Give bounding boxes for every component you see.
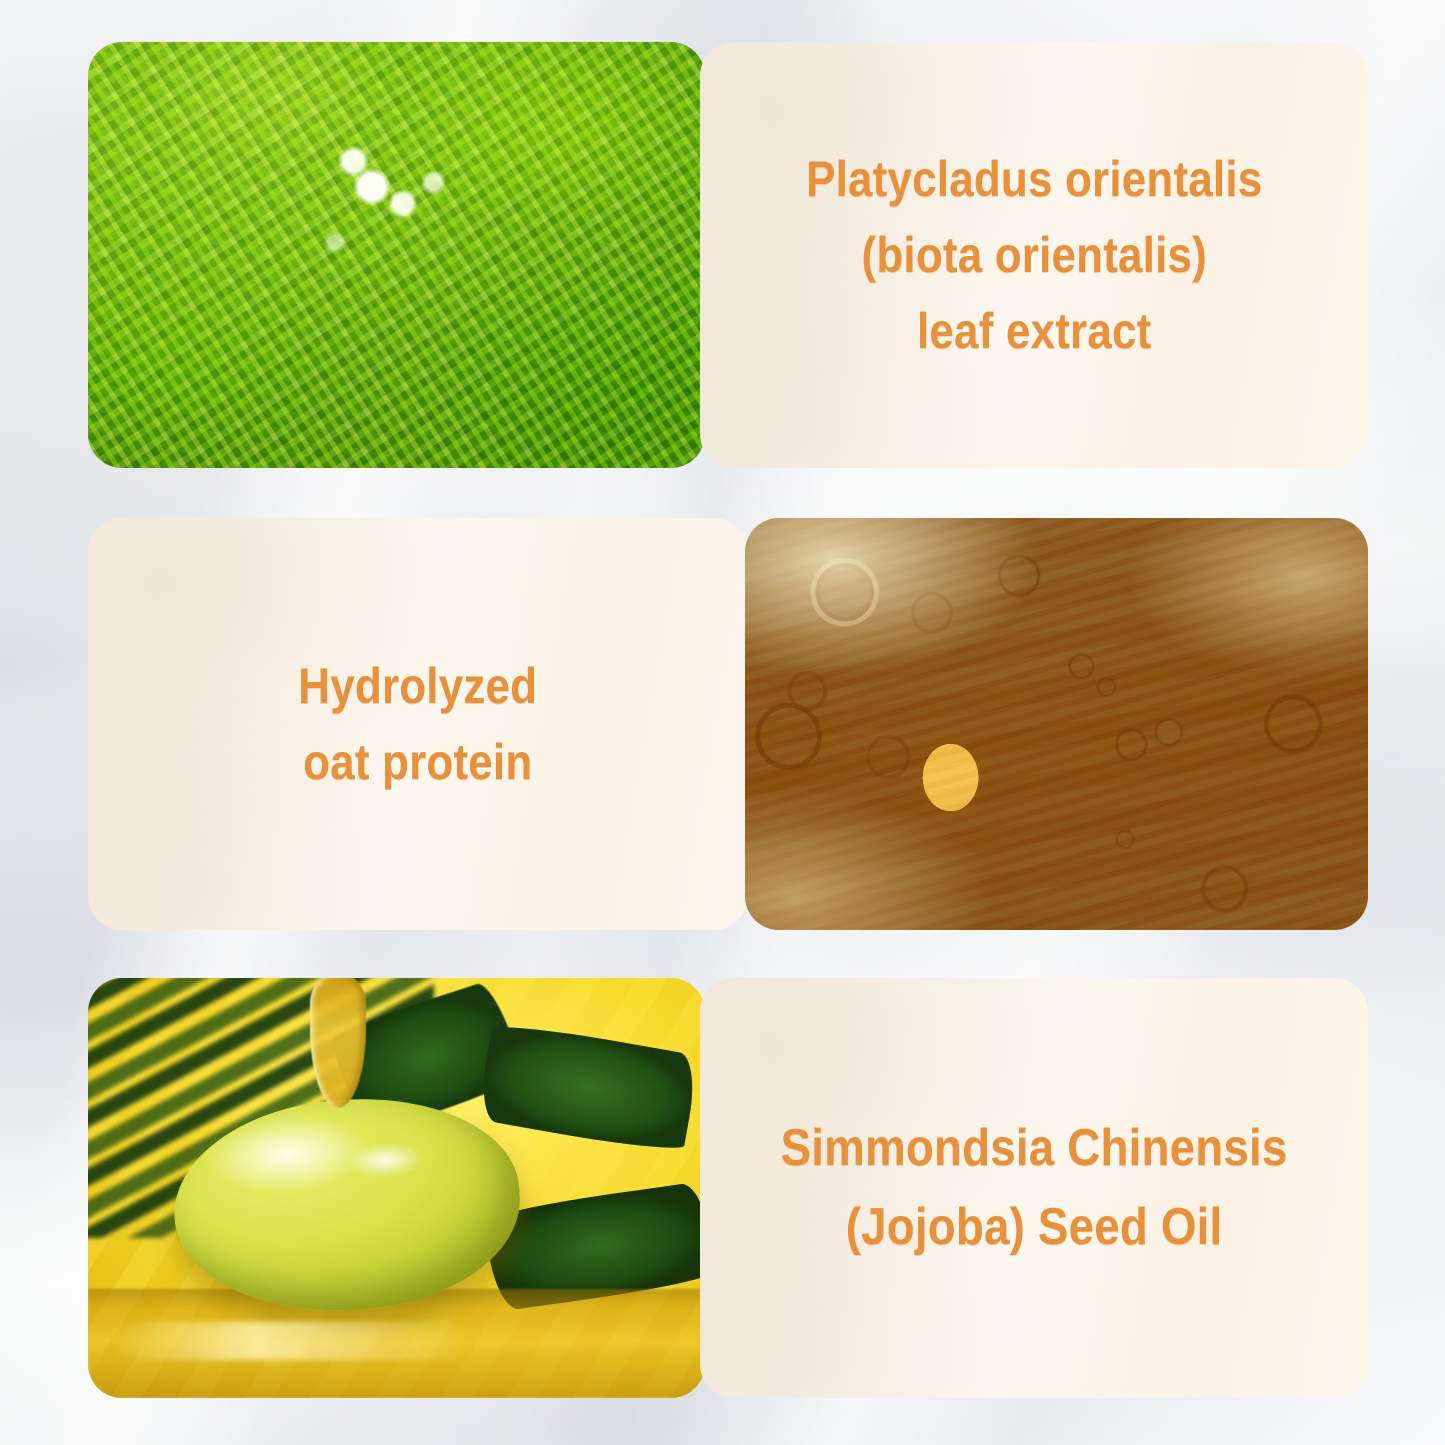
oil-pool-highlight bbox=[113, 1322, 471, 1360]
jojoba-seed-oil-photo bbox=[88, 978, 705, 1398]
jojoba-seed-oil-label-text: Simmondsia Chinensis (Jojoba) Seed Oil bbox=[765, 1109, 1304, 1267]
jojoba-seed-oil-label: Simmondsia Chinensis (Jojoba) Seed Oil bbox=[700, 978, 1368, 1398]
platycladus-orientalis-foliage-photo bbox=[88, 42, 705, 468]
hydrolyzed-oat-protein-label-text: Hydrolyzed oat protein bbox=[283, 648, 554, 800]
hydrolyzed-oat-protein-label: Hydrolyzed oat protein bbox=[88, 518, 748, 930]
platycladus-orientalis-label: Platycladus orientalis (biota orientalis… bbox=[700, 42, 1368, 468]
ingredient-infographic: Platycladus orientalis (biota orientalis… bbox=[0, 0, 1445, 1445]
hydrolyzed-oat-protein-photo bbox=[745, 518, 1368, 930]
oil-sheen-overlay bbox=[745, 518, 1368, 930]
conifer-depth-blur bbox=[88, 42, 705, 468]
platycladus-orientalis-label-text: Platycladus orientalis (biota orientalis… bbox=[790, 141, 1278, 369]
